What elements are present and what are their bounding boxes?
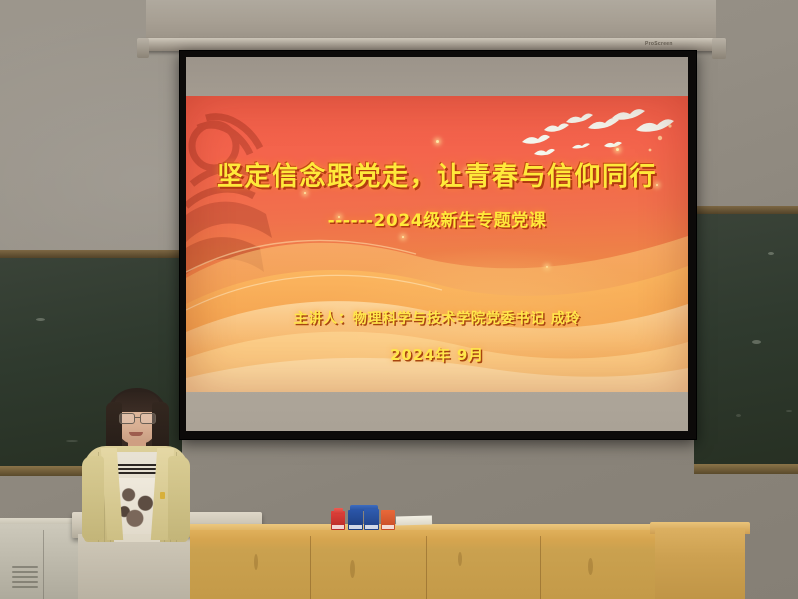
slide-title: 坚定信念跟党走，让青春与信仰同行 [186,156,688,193]
slide-presenter-line: 主讲人：物理科学与技术学院党委书记 成玲 [186,308,688,328]
blackboard-right-trim-bottom [694,464,798,474]
presenter-arm-right [168,456,190,540]
projection-screen-letterbox-band [186,57,688,97]
projector-screen-housing [146,0,716,41]
box-red-lid [334,508,343,514]
classroom-photo: ProScreen [0,0,798,599]
slide-date-line: 2024年 9月 [186,344,688,365]
blackboard-right [694,214,798,466]
presenter-arm-left [82,456,104,540]
presenter-shirt-stripes [114,464,160,474]
box-blue-1 [348,510,363,530]
projected-slide: 坚定信念跟党走，让青春与信仰同行 ------2024级新生专题党课 主讲人：物… [186,96,688,392]
screen-rail-cap-right [712,38,726,59]
slide-subtitle: ------2024级新生专题党课 [186,206,688,231]
teacher-desk [190,530,656,599]
screen-rail-cap-left [137,38,149,58]
paper-sheet [396,516,432,526]
side-desk [655,528,745,599]
presenter [78,388,194,548]
presenter-mouth [129,432,143,436]
lapel-badge-icon [160,492,165,499]
box-orange [381,510,395,530]
screen-brand-mark: ProScreen [645,41,673,47]
box-blue-2 [364,509,379,530]
eyeglasses-icon [119,413,155,422]
